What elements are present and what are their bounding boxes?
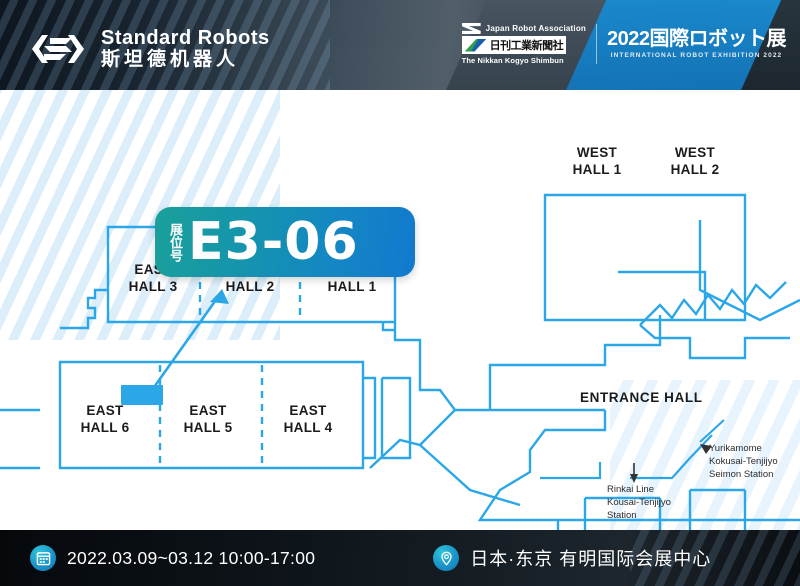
map-area: EAST HALL 3 EAST HALL 2 EAST HALL 1 EAST… (0, 90, 800, 530)
hall-label-east-hall-6: EAST HALL 6 (65, 403, 145, 437)
calendar-icon (30, 545, 56, 571)
jra-association-name: Japan Robot Association (486, 24, 586, 33)
nikkan-logo-box: 日刊工業新聞社 (462, 36, 567, 54)
expo-title-jp: 2022国際ロボット展 (607, 29, 786, 49)
hall-label-west-hall-2: WEST HALL 2 (655, 145, 735, 179)
entrance-hall-label: ENTRANCE HALL (580, 390, 703, 405)
hall-label-west-hall-1: WEST HALL 1 (557, 145, 637, 179)
location-pin-icon (433, 545, 459, 571)
brand-text-block: Standard Robots 斯坦德机器人 (101, 28, 270, 69)
hall-label-east-hall-5: EAST HALL 5 (168, 403, 248, 437)
partner-lockup: Japan Robot Association 日刊工業新聞社 The Nikk… (462, 23, 786, 65)
west-halls-outline (545, 195, 745, 320)
partner-divider (596, 24, 597, 64)
poster-root: Standard Robots 斯坦德机器人 Japan Robot Assoc… (0, 0, 800, 586)
hall-label-east-hall-4: EAST HALL 4 (268, 403, 348, 437)
footer-bar: 2022.03.09~03.12 10:00-17:00 日本·东京 有明国际会… (0, 530, 800, 586)
brand-name-en: Standard Robots (101, 28, 270, 48)
footer-date-item: 2022.03.09~03.12 10:00-17:00 (30, 545, 315, 571)
badge-booth-number: E3-06 (188, 216, 359, 268)
jra-block: Japan Robot Association 日刊工業新聞社 The Nikk… (462, 23, 586, 65)
booth-marker-e3-06 (121, 385, 163, 405)
expo-title-en: INTERNATIONAL ROBOT EXHIBITION 2022 (611, 52, 783, 59)
brand-lockup: Standard Robots 斯坦德机器人 (28, 28, 270, 69)
badge-vertical-label: 展位号 (169, 223, 182, 262)
standard-robots-chevron-logo-icon (28, 31, 88, 67)
footer-location-text: 日本·东京 有明国际会展中心 (470, 545, 711, 571)
booth-pointer-arrow (152, 289, 229, 390)
nikkan-name-en: The Nikkan Kogyo Shimbun (462, 56, 564, 65)
jra-title-row: Japan Robot Association (462, 23, 586, 34)
footer-location-item: 日本·东京 有明国际会展中心 (433, 545, 711, 571)
nikkan-name-jp: 日刊工業新聞社 (490, 37, 564, 53)
footer-date-text: 2022.03.09~03.12 10:00-17:00 (67, 548, 315, 569)
booth-number-badge: 展位号 E3-06 (155, 207, 415, 277)
station-arrow-rinkai (630, 463, 638, 483)
brand-name-cn: 斯坦德机器人 (101, 50, 270, 69)
nikkan-kogyo-mark-icon (465, 39, 487, 52)
expo-logo-block: 2022国際ロボット展 INTERNATIONAL ROBOT EXHIBITI… (607, 29, 786, 59)
west-inner-step (618, 272, 705, 320)
header-bar: Standard Robots 斯坦德机器人 Japan Robot Assoc… (0, 0, 800, 90)
station-label-yurikamome: Yurikamome Kokusai-Tenjijyo Seimon Stati… (709, 442, 778, 481)
station-label-rinkai-line: Rinkai Line Kousai-Tenjijyo Station (607, 483, 671, 522)
jra-z-mark-icon (462, 23, 481, 34)
